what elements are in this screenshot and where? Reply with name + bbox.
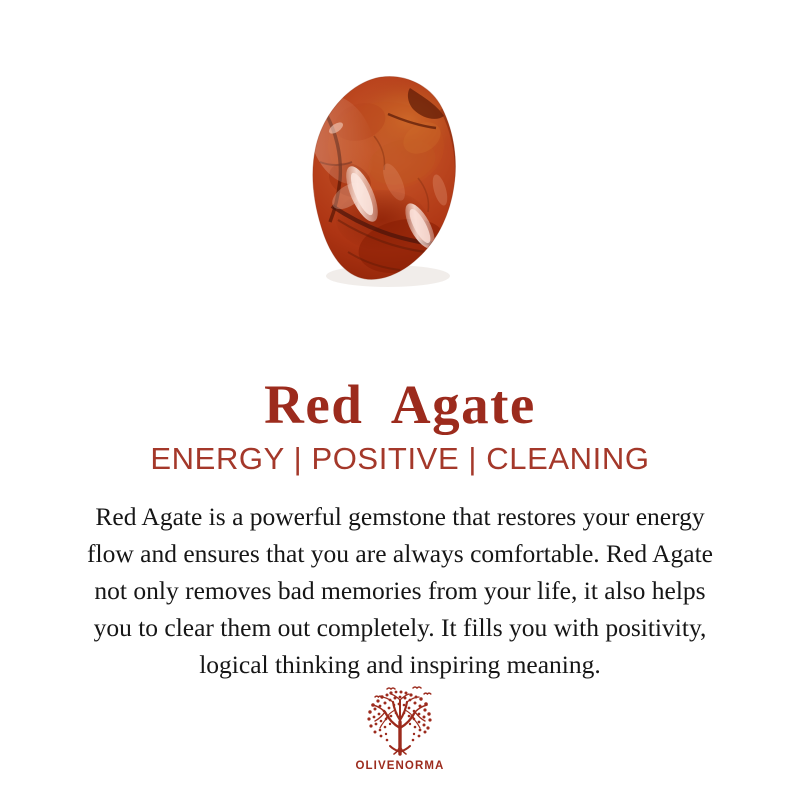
product-image-area <box>0 0 800 330</box>
product-description: Red Agate is a powerful gemstone that re… <box>22 498 778 683</box>
page-title: Red Agate <box>0 373 800 437</box>
keyword-subtitle: ENERGY | POSITIVE | CLEANING <box>0 440 800 478</box>
description-line: logical thinking and inspiring meaning. <box>22 646 778 683</box>
stone-body <box>290 70 520 300</box>
brand-name: OLIVENORMA <box>0 760 800 772</box>
description-line: flow and ensures that you are always com… <box>22 535 778 572</box>
tree-of-life-icon <box>357 686 443 758</box>
description-line: you to clear them out completely. It fil… <box>22 609 778 646</box>
brand-logo: OLIVENORMA <box>0 686 800 772</box>
description-line: not only removes bad memories from your … <box>22 572 778 609</box>
gemstone-stage <box>290 70 520 300</box>
description-line: Red Agate is a powerful gemstone that re… <box>22 498 778 535</box>
product-info-card: Red Agate ENERGY | POSITIVE | CLEANING R… <box>0 0 800 800</box>
red-agate-tumbled-stone-icon <box>290 70 520 300</box>
